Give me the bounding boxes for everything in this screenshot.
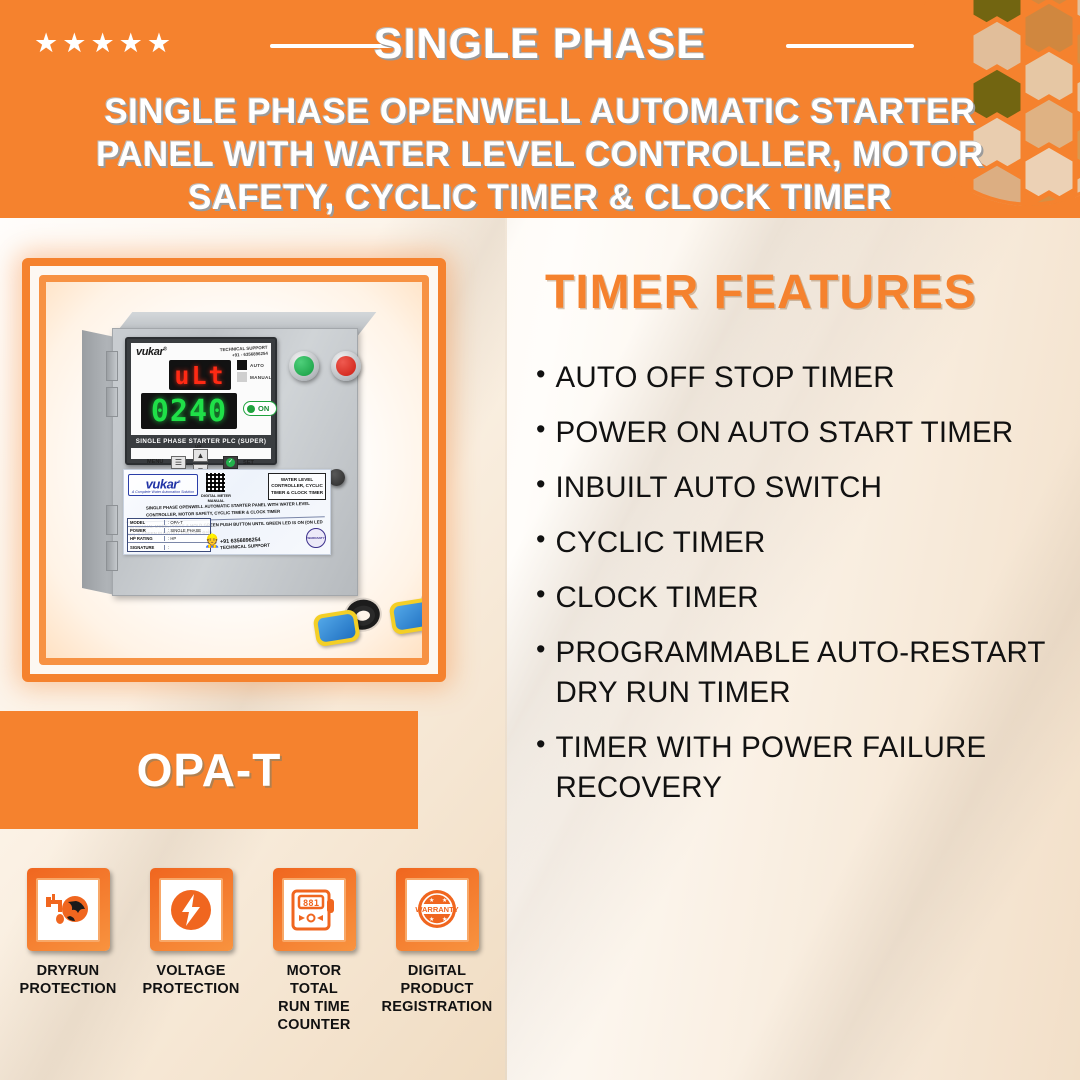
- red-button-cap: [336, 356, 356, 376]
- features-title: TIMER FEATURES: [545, 265, 1055, 320]
- spec-label: MODEL: [128, 520, 164, 525]
- table-row: POWER : SINGLE PHASE: [128, 527, 210, 535]
- feature-text: CYCLIC TIMER: [555, 523, 765, 563]
- svg-text:★: ★: [442, 916, 447, 923]
- product-image-inner-frame: vukar® TECHNICAL SUPPORT +91 - 635689625…: [39, 275, 429, 665]
- hinge-icon: [106, 387, 118, 417]
- product-image-frame: vukar® TECHNICAL SUPPORT +91 - 635689625…: [22, 258, 446, 682]
- on-status-label: ON: [258, 404, 269, 413]
- protection-icon-box: WARRANTY ★★ ★★: [396, 868, 479, 951]
- bullet-icon: •: [536, 728, 545, 760]
- product-info-sticker: vukar® A Complete Water Automation Solut…: [123, 469, 331, 555]
- green-push-button[interactable]: [289, 351, 319, 381]
- auto-indicator-icon: [237, 360, 247, 370]
- list-item: • PROGRAMMABLE AUTO-RESTART DRY RUN TIME…: [536, 633, 1066, 713]
- sticker-description: SINGLE PHASE OPENWELL AUTOMATIC STARTER …: [146, 500, 325, 519]
- red-seven-segment-display: uLt: [169, 360, 231, 390]
- set-button[interactable]: ✓: [223, 456, 238, 469]
- hinge-icon: [106, 351, 118, 381]
- mode-indicator-group: AUTO MANUAL: [237, 360, 277, 384]
- float-switch-body: [388, 597, 429, 635]
- sticker-support-block: +91 6356896254 TECHNICAL SUPPORT: [220, 537, 304, 548]
- list-item: • CLOCK TIMER: [536, 578, 1066, 618]
- header-title: SINGLE PHASE OPENWELL AUTOMATIC STARTER …: [50, 90, 1030, 218]
- set-check-icon: ✓: [226, 458, 235, 467]
- svg-text:★: ★: [429, 897, 434, 904]
- control-panel-enclosure: vukar® TECHNICAL SUPPORT +91 - 635689625…: [82, 312, 372, 602]
- bullet-icon: •: [536, 468, 545, 500]
- model-banner-label: OPA-T: [137, 743, 282, 797]
- table-row: HP RATING : HP: [128, 535, 210, 543]
- protection-caption: MOTORTOTALRUN TIMECOUNTER: [256, 962, 372, 1034]
- svg-text:★: ★: [442, 897, 447, 904]
- manual-indicator-icon: [237, 372, 247, 382]
- plc-display-module: vukar® TECHNICAL SUPPORT +91 - 635689625…: [125, 337, 277, 465]
- plc-display-face: vukar® TECHNICAL SUPPORT +91 - 635689625…: [131, 343, 271, 459]
- list-item: • INBUILT AUTO SWITCH: [536, 468, 1066, 508]
- spec-value: : OPA-T: [164, 520, 210, 525]
- list-item: • TIMER WITH POWER FAILURE RECOVERY: [536, 728, 1066, 808]
- protection-item-voltage: VOLTAGEPROTECTION: [133, 868, 249, 998]
- float-switch-cable-inner-icon: [426, 592, 429, 616]
- table-row: SIGNATURE :: [128, 543, 210, 551]
- feature-text: PROGRAMMABLE AUTO-RESTART DRY RUN TIMER: [555, 633, 1066, 713]
- svg-text:WARRANTY: WARRANTY: [415, 905, 458, 914]
- feature-text: AUTO OFF STOP TIMER: [555, 358, 894, 398]
- green-display-value: 0240: [151, 394, 227, 429]
- protection-caption: DIGITALPRODUCTREGISTRATION: [379, 962, 495, 1016]
- menu-label: MENU: [147, 459, 163, 465]
- header-banner: ★ ★ ★ ★ ★ SINGLE PHASE SINGLE PHASE OPEN…: [0, 0, 1080, 218]
- on-led-icon: [247, 405, 255, 413]
- hinge-icon: [106, 541, 118, 571]
- list-item: • AUTO OFF STOP TIMER: [536, 358, 1066, 398]
- protection-item-runtime: 881 MOTORTOTALRUN TIMECOUNTER: [256, 868, 372, 1034]
- protection-icon-box: [27, 868, 110, 951]
- bullet-icon: •: [536, 358, 545, 390]
- protection-icon-row: DRYRUNPROTECTION VOLTAGEPROTECTION 881: [0, 868, 505, 1080]
- bullet-icon: •: [536, 413, 545, 445]
- feature-text: INBUILT AUTO SWITCH: [555, 468, 882, 508]
- float-switch-body: [312, 609, 360, 647]
- warranty-seal-icon: WARRANTY: [306, 528, 326, 548]
- green-button-cap: [294, 356, 314, 376]
- spec-label: HP RATING: [128, 536, 164, 541]
- set-label: SET: [243, 460, 254, 466]
- lightning-bolt-icon: [159, 878, 223, 942]
- protection-caption: VOLTAGEPROTECTION: [133, 962, 249, 998]
- tap-globe-icon: [36, 878, 100, 942]
- mode-auto-label: AUTO: [250, 363, 264, 368]
- features-list: • AUTO OFF STOP TIMER • POWER ON AUTO ST…: [536, 358, 1066, 823]
- column-divider: [505, 218, 507, 1080]
- plc-tech-support: TECHNICAL SUPPORT +91 - 6356896254: [220, 345, 268, 359]
- support-person-icon: 👷: [204, 533, 220, 549]
- spec-label: SIGNATURE: [128, 545, 164, 550]
- list-item: • CYCLIC TIMER: [536, 523, 1066, 563]
- mode-auto-row: AUTO: [237, 360, 277, 370]
- sticker-logo-tagline: A Complete Water Automation Solution: [132, 490, 194, 494]
- on-status-badge: ON: [243, 401, 277, 416]
- bullet-icon: •: [536, 633, 545, 665]
- plc-brand-label: vukar®: [136, 346, 167, 358]
- mode-manual-label: MANUAL: [250, 375, 272, 380]
- feature-text: TIMER WITH POWER FAILURE RECOVERY: [555, 728, 1066, 808]
- hinge-icon: [106, 505, 118, 535]
- qr-code-icon: [206, 473, 225, 492]
- feature-text: CLOCK TIMER: [555, 578, 758, 618]
- header-eyebrow: SINGLE PHASE: [0, 20, 1080, 69]
- red-push-button[interactable]: [331, 351, 361, 381]
- svg-text:881: 881: [303, 899, 319, 909]
- red-display-value: uLt: [174, 361, 225, 390]
- float-switch-face: [393, 601, 429, 630]
- bullet-icon: •: [536, 523, 545, 555]
- digital-meter-icon: 881: [282, 878, 346, 942]
- up-button[interactable]: ▲: [193, 449, 208, 462]
- plc-brand-text: vukar: [136, 346, 163, 358]
- protection-item-registration: WARRANTY ★★ ★★ DIGITALPRODUCTREGISTRATIO…: [379, 868, 495, 1016]
- mode-manual-row: MANUAL: [237, 372, 277, 382]
- protection-caption: DRYRUNPROTECTION: [10, 962, 126, 998]
- warranty-seal-icon: WARRANTY ★★ ★★: [405, 878, 469, 942]
- svg-text:★: ★: [429, 916, 434, 923]
- protection-icon-box: [150, 868, 233, 951]
- sticker-logo: vukar® A Complete Water Automation Solut…: [128, 474, 198, 496]
- spec-label: POWER: [128, 528, 164, 533]
- protection-item-dryrun: DRYRUNPROTECTION: [10, 868, 126, 998]
- menu-button[interactable]: ☰: [171, 456, 186, 469]
- protection-icon-box: 881: [273, 868, 356, 951]
- float-switch-face: [317, 613, 356, 642]
- sticker-spec-table: MODEL : OPA-T POWER : SINGLE PHASE HP RA…: [127, 518, 211, 552]
- table-row: MODEL : OPA-T: [128, 519, 210, 527]
- sticker-feature-badge: WATER LEVEL CONTROLLER, CYCLIC TIMER & C…: [268, 473, 326, 500]
- bullet-icon: •: [536, 578, 545, 610]
- sticker-logo-text: vukar®: [146, 476, 181, 490]
- list-item: • POWER ON AUTO START TIMER: [536, 413, 1066, 453]
- model-banner: OPA-T: [0, 711, 418, 829]
- green-seven-segment-display: 0240: [141, 393, 237, 429]
- registered-mark-icon: ®: [163, 346, 166, 352]
- feature-text: POWER ON AUTO START TIMER: [555, 413, 1013, 453]
- enclosure-front-face: vukar® TECHNICAL SUPPORT +91 - 635689625…: [112, 328, 358, 596]
